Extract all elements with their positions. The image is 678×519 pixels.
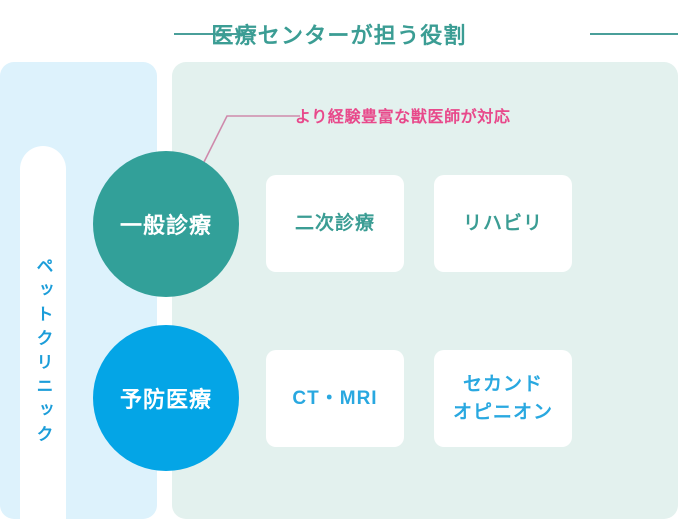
annotation-text: より経験豊富な獣医師が対応 [295,103,510,127]
card-rehabilitation-label: リハビリ [463,210,543,238]
card-ct-mri-label: CT・MRI [292,385,377,413]
circle-general-care: 一般診療 [93,151,239,297]
page-title-row: 医療センターが担う役割 [0,14,678,54]
circle-preventive-care-label: 予防医療 [120,382,212,414]
card-second-opinion-line1: セカンド [463,374,543,395]
pet-clinic-label: ペットクリニック [35,257,52,449]
card-rehabilitation: リハビリ [434,175,572,272]
card-ct-mri: CT・MRI [266,350,404,447]
card-second-opinion-line2: オピニオン [453,402,553,423]
card-secondary-care-label: 二次診療 [295,210,375,238]
card-second-opinion-label: セカンド オピニオン [453,371,553,426]
page-title: 医療センターが担う役割 [211,18,466,50]
panel-medical-center: 医療センター [172,62,678,519]
circle-preventive-care: 予防医療 [93,325,239,471]
diagram-canvas: 医療センターが担う役割 ペットクリニック 医療センター より経験豊富な獣医師が対… [0,0,678,519]
card-second-opinion: セカンド オピニオン [434,350,572,447]
card-secondary-care: 二次診療 [266,175,404,272]
title-rule-right [590,33,678,35]
pet-clinic-label-pill: ペットクリニック [20,146,66,519]
circle-general-care-label: 一般診療 [120,208,212,240]
